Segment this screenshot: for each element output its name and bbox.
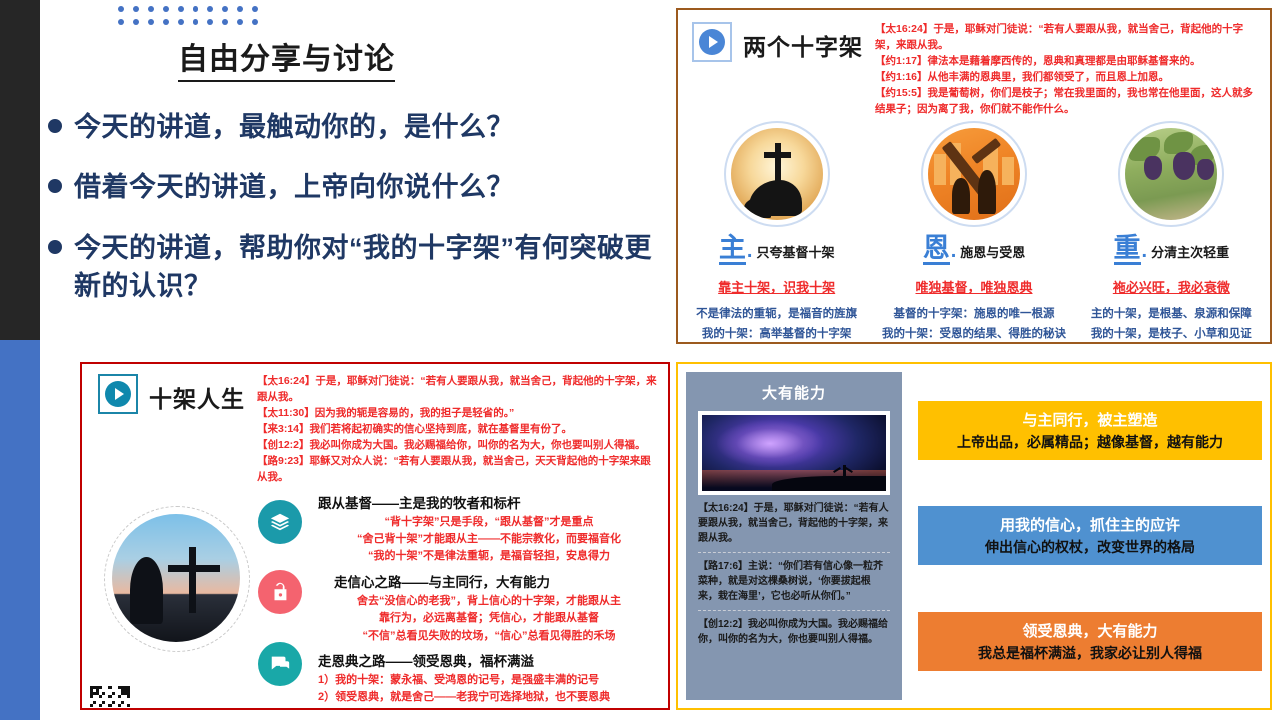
list-item: 借着今天的讲道，上帝向你说什么？ bbox=[48, 168, 668, 206]
panel-title: 两个十字架 bbox=[743, 28, 863, 62]
galaxy-image bbox=[698, 411, 890, 495]
verse-line: 【约1:16】从他丰满的恩典里，我们都领受了，而且恩上加恩。 bbox=[875, 70, 1262, 86]
discussion-block: 自由分享与讨论 今天的讲道，最触动你的，是什么？ 借着今天的讲道，上帝向你说什么… bbox=[48, 34, 668, 327]
column-big-label: 主 bbox=[719, 234, 746, 265]
section-list: 跟从基督——主是我的牧者和标杆 “背十字架”只是手段，“跟从基督”才是重点 “舍… bbox=[318, 492, 660, 710]
callout-box-walk-with-lord: 与主同行，被主塑造 上帝出品，必属精品；越像基督，越有能力 bbox=[918, 401, 1262, 460]
section-heading: 走信心之路——与主同行，大有能力 bbox=[334, 571, 660, 591]
chat-icon[interactable] bbox=[258, 642, 302, 686]
callout-subtext: 上帝出品，必属精品；越像基督，越有能力 bbox=[928, 432, 1252, 452]
column-label-row: 重 . 分清主次轻重 bbox=[1114, 234, 1230, 265]
section-line: 2）领受恩典，就是舍己——老我宁可选择地狱，也不要恩典 bbox=[318, 689, 660, 706]
kneeling-prayer-image bbox=[112, 514, 240, 642]
section-heading: 跟从基督——主是我的牧者和标杆 bbox=[318, 492, 660, 512]
bullet-icon bbox=[48, 179, 62, 193]
column-slogan: 靠主十架，识我十架 bbox=[718, 277, 835, 296]
label-dot: . bbox=[747, 240, 753, 263]
column-slogan: 唯独基督，唯独恩典 bbox=[915, 277, 1032, 296]
callout-box-receive-grace: 领受恩典，大有能力 我总是福杯满溢，我家必让别人得福 bbox=[918, 612, 1262, 671]
column-big-label: 重 bbox=[1114, 234, 1141, 265]
callout-heading: 领受恩典，大有能力 bbox=[928, 620, 1252, 641]
carrying-cross-image bbox=[928, 128, 1020, 220]
section-line: “我的十架”不是律法重轭，是福音轻担，安息得力 bbox=[318, 548, 660, 565]
section-line: 3）苦待己身，为了自义；领受恩典，为尊荣基督 bbox=[318, 707, 660, 710]
callout-box-faith-promise: 用我的信心，抓住主的应许 伸出信心的权杖，改变世界的格局 bbox=[918, 506, 1262, 565]
verse-line: 【约15:5】我是葡萄树，你们是枝子；常在我里面的，我也常在他里面，这人就多结果… bbox=[875, 86, 1262, 118]
section-line: “不信”总看见失败的坟场，“信心”总看见得胜的禾场 bbox=[318, 628, 660, 645]
verse-line: 【路9:23】耶稣又对众人说：“若有人要跟从我，就当舍己，天天背起他的十字架来跟… bbox=[257, 454, 660, 486]
column-note: 我的十架：受恩的结果、得胜的秘诀 bbox=[882, 324, 1066, 344]
callout-subtext: 伸出信心的权杖，改变世界的格局 bbox=[928, 537, 1252, 557]
column-sub-label: 分清主次轻重 bbox=[1151, 242, 1229, 261]
great-power-panel: 大有能力 【太16:24】于是，耶稣对门徒说：“若有人要跟从我，就当舍己，背起他… bbox=[676, 362, 1272, 710]
section-faith-road: 走信心之路——与主同行，大有能力 舍去“没信心的老我”，背上信心的十字架，才能跟… bbox=[318, 571, 660, 645]
callout-heading: 与主同行，被主塑造 bbox=[928, 409, 1252, 430]
left-blue-bar bbox=[0, 340, 40, 720]
panel-title: 十架人生 bbox=[149, 380, 245, 414]
panel-header: 十架人生 【太16:24】于是，耶稣对门徒说：“若有人要跟从我，就当舍己，背起他… bbox=[82, 364, 668, 486]
section-grace-road: 走恩典之路——领受恩典，福杯满溢 1）我的十架：蒙永福、受鸿恩的记号，是强盛丰满… bbox=[318, 650, 660, 710]
badge-column bbox=[258, 492, 310, 710]
question-text: 今天的讲道，最触动你的，是什么？ bbox=[74, 108, 514, 146]
panel-header: 两个十字架 【太16:24】于是，耶稣对门徒说：“若有人要跟从我，就当舍己，背起… bbox=[678, 10, 1270, 118]
column-note: 我的十架，是枝子、小草和见证 bbox=[1091, 324, 1252, 344]
lock-icon[interactable] bbox=[258, 570, 302, 614]
question-text: 借着今天的讲道，上帝向你说什么？ bbox=[74, 168, 514, 206]
play-icon[interactable] bbox=[98, 374, 138, 414]
column-note: 我的十架：高举基督的十字架 bbox=[702, 324, 852, 344]
section-follow-christ: 跟从基督——主是我的牧者和标杆 “背十字架”只是手段，“跟从基督”才是重点 “舍… bbox=[318, 492, 660, 566]
verse-line: 【太16:24】于是，耶稣对门徒说：“若有人要跟从我，就当舍己，背起他的十字架，… bbox=[257, 374, 660, 406]
play-icon[interactable] bbox=[692, 22, 732, 62]
column-note: 基督的十字架：施恩的唯一根源 bbox=[893, 304, 1054, 324]
verse-line: 【太16:24】于是，耶稣对门徒说：“若有人要跟从我，就当舍己，背起他的十字架，… bbox=[698, 495, 890, 552]
cross-life-panel: 十架人生 【太16:24】于是，耶稣对门徒说：“若有人要跟从我，就当舍己，背起他… bbox=[80, 362, 670, 710]
section-line: “背十字架”只是手段，“跟从基督”才是重点 bbox=[318, 514, 660, 531]
verse-line: 【创12:2】我必叫你成为大国。我必赐福给你，叫你的名为大，你也要叫别人得福。 bbox=[698, 610, 890, 653]
list-item: 今天的讲道，最触动你的，是什么？ bbox=[48, 108, 668, 146]
column-big-label: 恩 bbox=[923, 234, 950, 265]
section-heading: 走恩典之路——领受恩典，福杯满溢 bbox=[318, 650, 660, 670]
verse-line: 【太11:30】因为我的轭是容易的，我的担子是轻省的。” bbox=[257, 406, 660, 422]
verse-line: 【约1:17】律法本是藉着摩西传的，恩典和真理都是由耶稣基督来的。 bbox=[875, 54, 1262, 70]
discussion-question-list: 今天的讲道，最触动你的，是什么？ 借着今天的讲道，上帝向你说什么？ 今天的讲道，… bbox=[48, 108, 668, 305]
verse-line: 【太16:24】于是，耶稣对门徒说：“若有人要跟从我，就当舍己，背起他的十字架，… bbox=[875, 22, 1262, 54]
great-power-sidebar: 大有能力 【太16:24】于是，耶稣对门徒说：“若有人要跟从我，就当舍己，背起他… bbox=[686, 372, 902, 700]
label-dot: . bbox=[951, 240, 957, 263]
verse-line: 【路17:6】主说：“你们若有信心像一粒芥菜种，就是对这棵桑树说，‘你要拔起根来… bbox=[698, 552, 890, 610]
bullet-icon bbox=[48, 119, 62, 133]
column-note: 不是律法的重轭，是福音的旌旗 bbox=[696, 304, 857, 324]
section-line: “舍己背十架”才能跟从主——不能宗教化，而要福音化 bbox=[318, 531, 660, 548]
dot-row bbox=[118, 19, 258, 25]
dot-decoration bbox=[118, 6, 258, 32]
column-priority: 重 . 分清主次轻重 袘必兴旺，我必衰微 主的十架，是根基、泉源和保障 我的十架… bbox=[1073, 128, 1270, 344]
qr-code[interactable] bbox=[90, 686, 130, 710]
column-label-row: 恩 . 施恩与受恩 bbox=[923, 234, 1026, 265]
three-column-group: 主 . 只夸基督十架 靠主十架，识我十架 不是律法的重轭，是福音的旌旗 我的十架… bbox=[678, 128, 1270, 344]
verse-list: 【太16:24】于是，耶稣对门徒说：“若有人要跟从我，就当舍己，背起他的十字架，… bbox=[875, 22, 1262, 118]
dot-row bbox=[118, 6, 258, 12]
bullet-icon bbox=[48, 240, 62, 254]
column-slogan: 袘必兴旺，我必衰微 bbox=[1113, 277, 1230, 296]
column-sub-label: 只夸基督十架 bbox=[756, 242, 834, 261]
section-line: 1）我的十架：蒙永福、受鸿恩的记号，是强盛丰满的记号 bbox=[318, 672, 660, 689]
cross-on-hill-image bbox=[731, 128, 823, 220]
label-dot: . bbox=[1142, 240, 1148, 263]
callout-box-group: 与主同行，被主塑造 上帝出品，必属精品；越像基督，越有能力 用我的信心，抓住主的… bbox=[918, 372, 1262, 700]
slide-canvas: 自由分享与讨论 今天的讲道，最触动你的，是什么？ 借着今天的讲道，上帝向你说什么… bbox=[0, 0, 1280, 720]
column-sub-label: 施恩与受恩 bbox=[960, 242, 1025, 261]
callout-subtext: 我总是福杯满溢，我家必让别人得福 bbox=[928, 643, 1252, 663]
left-dark-bar bbox=[0, 0, 40, 340]
two-crosses-panel: 两个十字架 【太16:24】于是，耶稣对门徒说：“若有人要跟从我，就当舍己，背起… bbox=[676, 8, 1272, 344]
panel-title: 大有能力 bbox=[698, 382, 890, 403]
column-lord: 主 . 只夸基督十架 靠主十架，识我十架 不是律法的重轭，是福音的旌旗 我的十架… bbox=[678, 128, 875, 344]
question-text: 今天的讲道，帮助你对“我的十字架”有何突破更新的认识？ bbox=[74, 229, 668, 306]
verse-line: 【创12:2】我必叫你成为大国。我必赐福给你，叫你的名为大，你也要叫别人得福。 bbox=[257, 438, 660, 454]
grapes-vine-image bbox=[1125, 128, 1217, 220]
panel-body: 跟从基督——主是我的牧者和标杆 “背十字架”只是手段，“跟从基督”才是重点 “舍… bbox=[82, 492, 668, 710]
verse-list: 【太16:24】于是，耶稣对门徒说：“若有人要跟从我，就当舍己，背起他的十字架，… bbox=[257, 374, 660, 486]
column-label-row: 主 . 只夸基督十架 bbox=[719, 234, 835, 265]
section-line: 靠行为，必远离基督；凭信心，才能跟从基督 bbox=[318, 610, 660, 627]
column-grace: 恩 . 施恩与受恩 唯独基督，唯独恩典 基督的十字架：施恩的唯一根源 我的十架：… bbox=[875, 128, 1072, 344]
verse-line: 【来3:14】我们若将起初确实的信心坚持到底，就在基督里有份了。 bbox=[257, 422, 660, 438]
callout-heading: 用我的信心，抓住主的应许 bbox=[928, 514, 1252, 535]
list-item: 今天的讲道，帮助你对“我的十字架”有何突破更新的认识？ bbox=[48, 229, 668, 306]
column-note: 主的十架，是根基、泉源和保障 bbox=[1091, 304, 1252, 324]
section-line: 舍去“没信心的老我”，背上信心的十字架，才能跟从主 bbox=[318, 593, 660, 610]
page-title: 自由分享与讨论 bbox=[178, 34, 395, 82]
layers-icon[interactable] bbox=[258, 500, 302, 544]
